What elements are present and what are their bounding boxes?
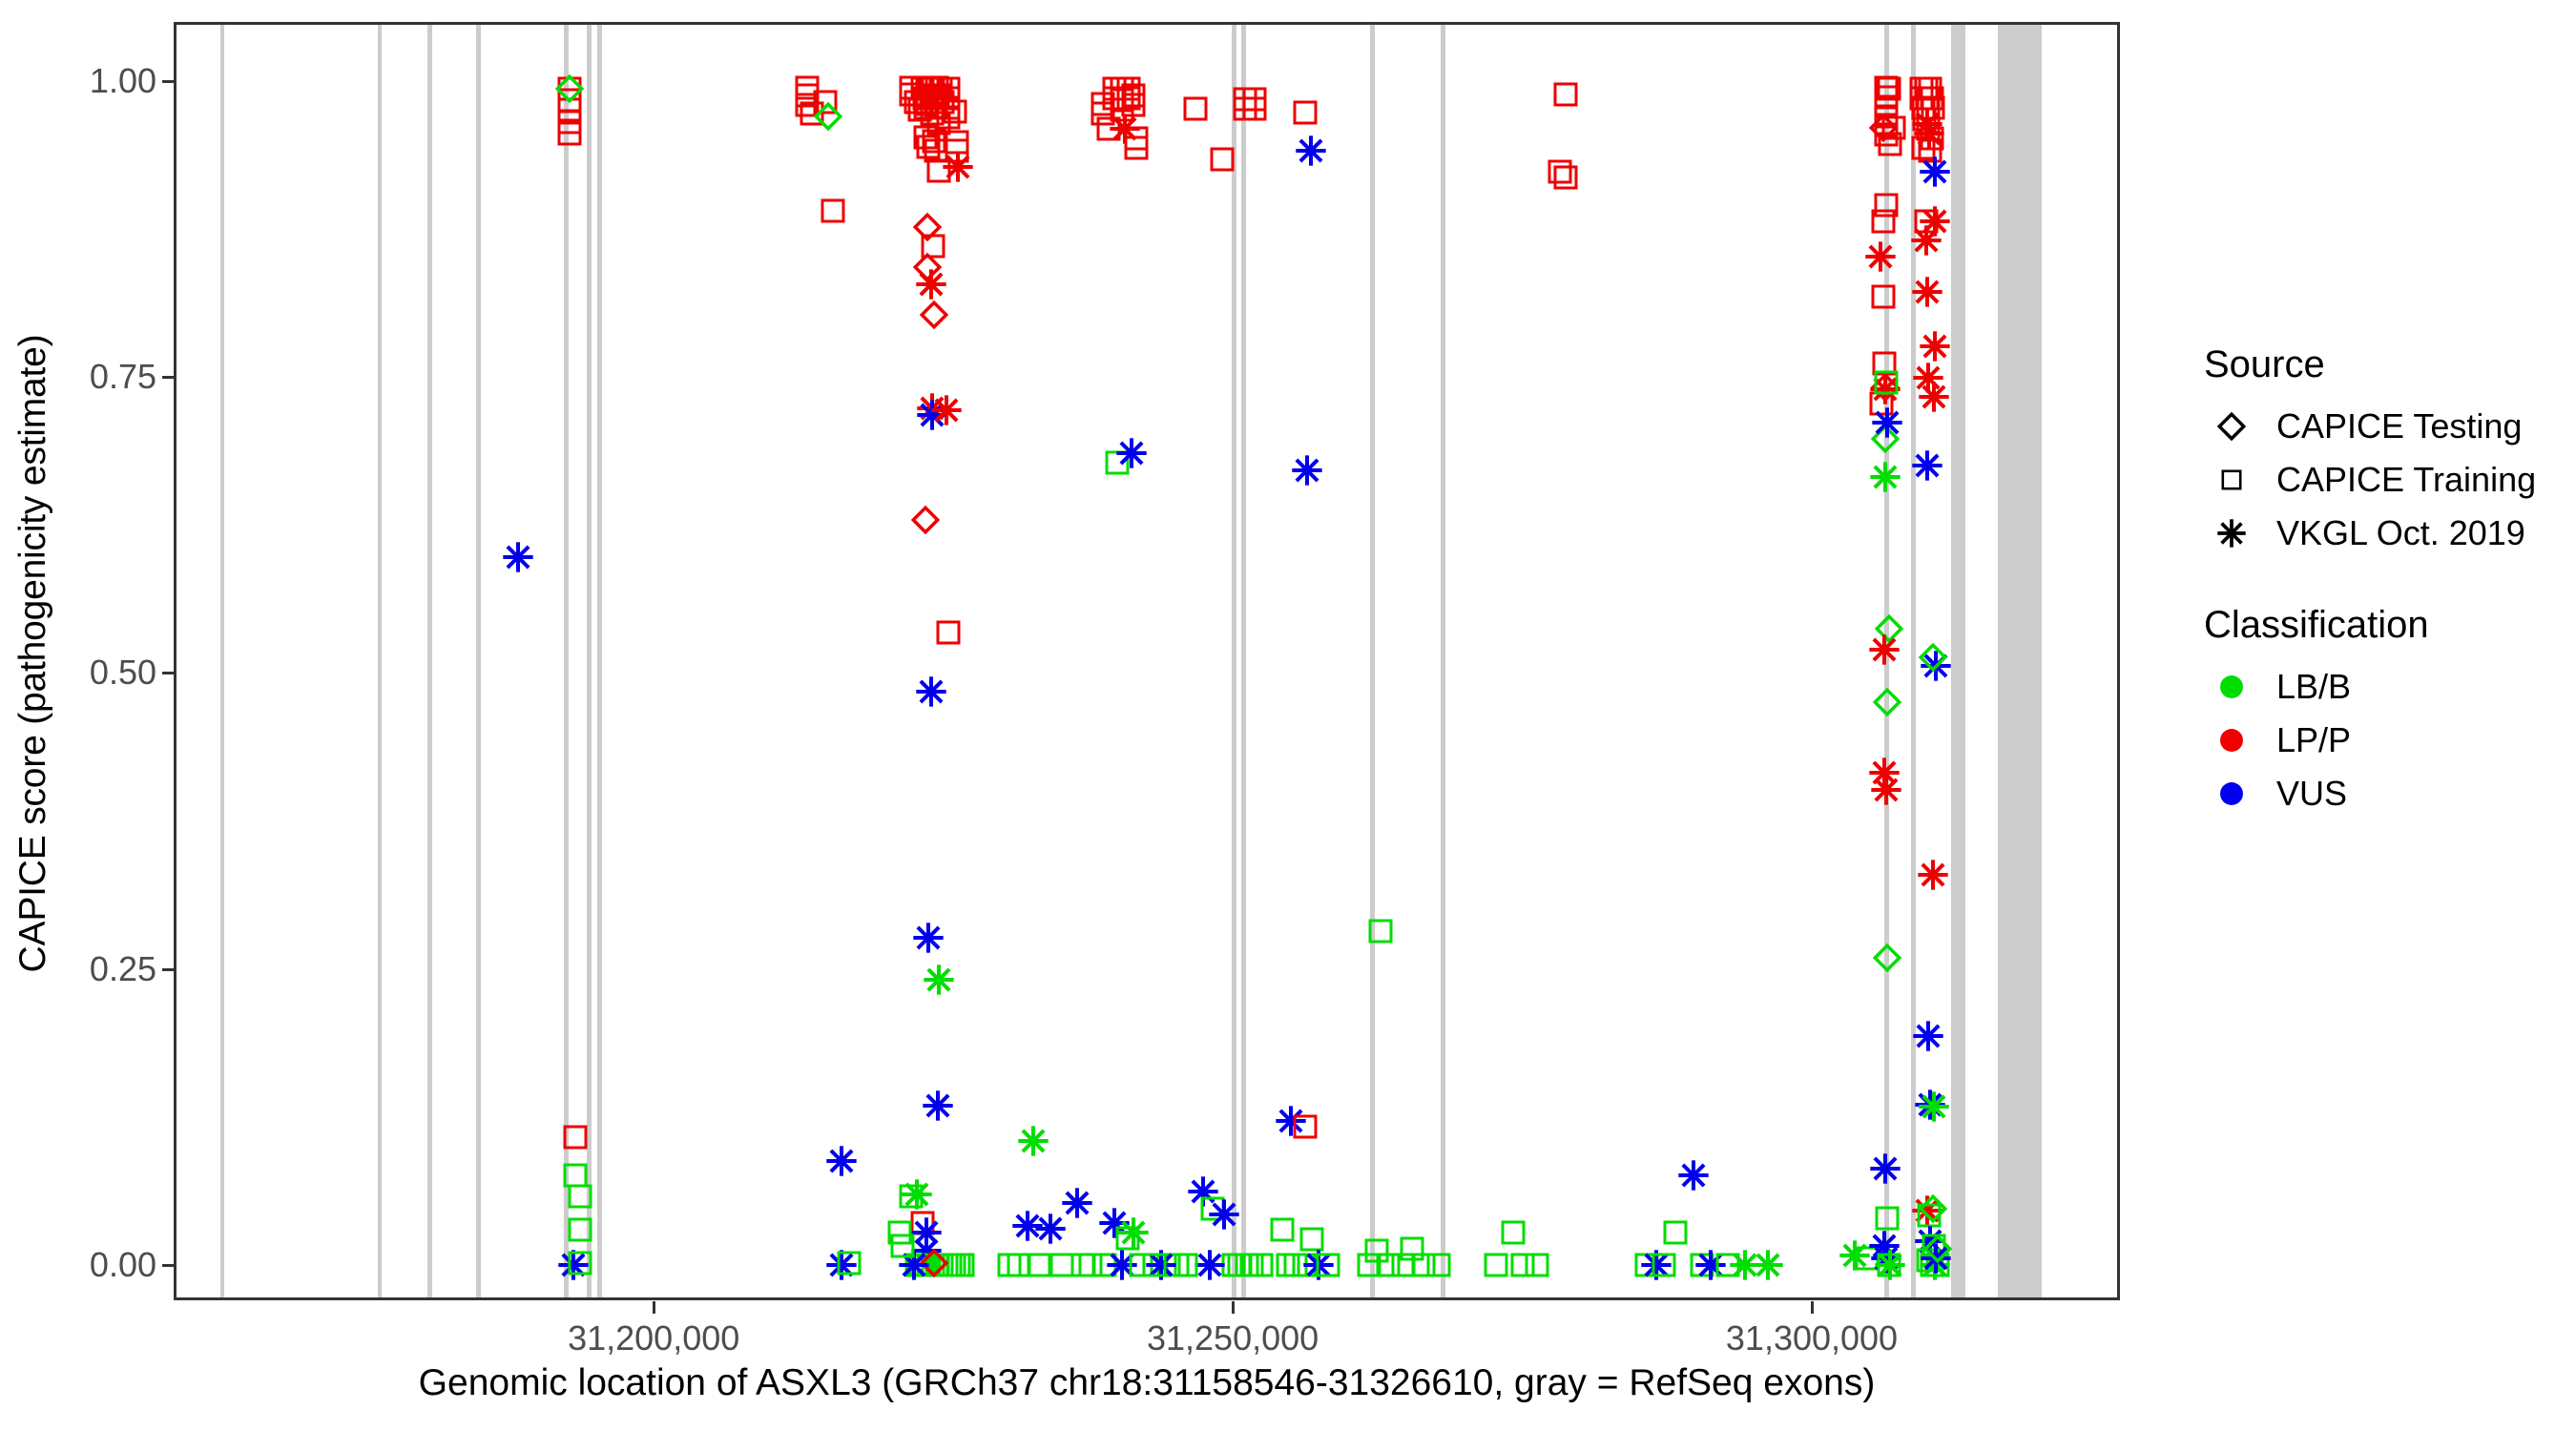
x-tick-mark: [653, 1301, 655, 1314]
data-point: [813, 90, 838, 114]
data-point: [1634, 1253, 1659, 1277]
data-point: [1091, 92, 1115, 116]
data-point: [913, 923, 944, 953]
data-point: [1357, 1253, 1381, 1277]
data-point: [1918, 860, 1948, 890]
exon-region-band: [1441, 25, 1445, 1297]
data-point: [1012, 1211, 1043, 1241]
legend-label: VUS: [2259, 774, 2347, 814]
data-point: [1921, 1243, 1951, 1274]
data-point: [1174, 1253, 1198, 1277]
data-point: [911, 1235, 942, 1266]
exon-region-band: [220, 25, 225, 1297]
data-point: [1914, 118, 1944, 149]
data-point: [1116, 86, 1141, 111]
diamond-icon: [2204, 400, 2259, 453]
exon-region-band: [1998, 25, 2042, 1297]
exon-region-band: [427, 25, 432, 1297]
data-point: [936, 620, 961, 645]
exon-region-band: [587, 25, 592, 1297]
data-point: [916, 1253, 941, 1277]
data-point: [1484, 1253, 1508, 1277]
data-point: [913, 125, 938, 150]
data-point: [837, 1251, 862, 1275]
data-point: [1102, 76, 1127, 101]
data-point: [899, 1250, 929, 1280]
data-point: [915, 83, 940, 108]
legend-item-classification-VUS[interactable]: VUS: [2204, 767, 2566, 820]
data-point: [942, 1253, 966, 1277]
data-point: [1525, 1253, 1549, 1277]
legend-title-classification: Classification: [2204, 604, 2566, 647]
legend-label: CAPICE Testing: [2259, 406, 2522, 446]
data-point: [1730, 1250, 1760, 1280]
data-point: [925, 83, 950, 108]
data-point: [1912, 107, 1937, 132]
x-tick-label: 31,300,000: [1659, 1318, 1964, 1358]
data-point: [920, 301, 948, 329]
data-point: [1663, 1220, 1688, 1245]
y-tick-mark: [162, 376, 174, 379]
data-point: [921, 76, 945, 101]
data-point: [910, 76, 935, 101]
y-tick-label: 0.25: [4, 949, 156, 989]
data-point: [1391, 1253, 1416, 1277]
data-point: [1918, 138, 1942, 163]
y-tick-label: 1.00: [4, 61, 156, 101]
data-point: [1146, 1250, 1176, 1280]
data-point: [924, 94, 948, 119]
data-point: [557, 110, 582, 135]
data-point: [1091, 101, 1115, 126]
data-point: [946, 1253, 971, 1277]
legend-color-items: LB/B LP/P VUS: [2204, 660, 2566, 820]
data-point: [943, 152, 973, 182]
data-point: [1877, 1253, 1901, 1277]
data-point: [924, 138, 948, 163]
data-point: [945, 138, 969, 163]
data-point: [1501, 1220, 1526, 1245]
data-point: [1099, 1208, 1130, 1238]
data-point: [1276, 1253, 1300, 1277]
exon-region-band: [1241, 25, 1246, 1297]
data-point: [919, 85, 944, 110]
x-tick-label: 31,250,000: [1080, 1318, 1385, 1358]
data-point: [911, 1217, 942, 1248]
data-point: [1129, 1253, 1153, 1277]
data-point: [899, 1184, 924, 1209]
data-point: [1293, 100, 1318, 125]
data-point: [1299, 1227, 1324, 1252]
data-point: [1920, 1253, 1944, 1277]
color-swatch-icon: [2204, 714, 2259, 767]
data-point: [1426, 1253, 1451, 1277]
data-point: [1183, 96, 1208, 121]
data-point: [1188, 1176, 1218, 1207]
data-point: [1923, 1234, 1952, 1263]
data-point: [1839, 1240, 1870, 1271]
data-point: [1919, 382, 1949, 412]
data-point: [1107, 1250, 1137, 1280]
data-point: [1915, 1089, 1945, 1120]
data-point: [936, 95, 961, 120]
y-tick-label: 0.75: [4, 357, 156, 397]
exon-region-band: [378, 25, 383, 1297]
data-point: [921, 234, 945, 259]
data-point: [904, 90, 928, 114]
data-point: [910, 1211, 935, 1235]
data-point: [1316, 1253, 1340, 1277]
data-point: [1249, 1253, 1274, 1277]
legend-item-source-asterisk[interactable]: VKGL Oct. 2019: [2204, 507, 2566, 560]
data-point: [1921, 651, 1951, 681]
data-point: [920, 101, 945, 126]
data-point: [1878, 132, 1902, 156]
data-point: [1918, 76, 1942, 101]
data-point: [1110, 76, 1134, 101]
data-point: [558, 1250, 589, 1280]
data-point: [1283, 1253, 1308, 1277]
data-point: [1865, 241, 1896, 272]
data-point: [911, 506, 940, 534]
data-point: [938, 1253, 963, 1277]
data-point: [934, 1253, 959, 1277]
data-point: [1400, 1236, 1424, 1261]
plot-panel: [174, 22, 2120, 1300]
legend-group-source: Source CAPICE Testing CAPICE TrainingVKG…: [2204, 343, 2566, 560]
data-point: [1871, 284, 1896, 309]
data-point: [1105, 450, 1130, 475]
data-point: [921, 1253, 945, 1277]
data-point: [826, 1146, 857, 1176]
color-swatch-icon: [2204, 660, 2259, 714]
data-point: [1195, 1250, 1225, 1280]
data-point: [1652, 1253, 1676, 1277]
data-point: [1919, 1194, 1947, 1223]
data-point: [1116, 76, 1141, 101]
data-point: [1877, 76, 1901, 101]
data-point: [890, 1234, 915, 1258]
data-point: [1124, 135, 1149, 160]
data-point: [907, 1253, 932, 1277]
data-point: [1919, 643, 1947, 672]
data-point: [1292, 455, 1322, 486]
data-point: [950, 1253, 975, 1277]
data-point: [902, 1179, 932, 1210]
y-tick-mark: [162, 1264, 174, 1267]
data-point: [917, 393, 947, 424]
exon-region-band: [597, 25, 602, 1297]
data-point: [1912, 450, 1942, 481]
data-point: [1235, 1253, 1259, 1277]
data-point: [1921, 95, 1945, 120]
data-point: [821, 198, 845, 223]
data-point: [922, 129, 946, 154]
data-point: [907, 97, 932, 122]
legend-label: LP/P: [2259, 720, 2351, 760]
data-point: [1115, 1226, 1140, 1251]
legend-label: CAPICE Training: [2259, 460, 2536, 500]
exon-region-band: [1951, 25, 1965, 1297]
legend-item-classification-LP-P[interactable]: LP/P: [2204, 714, 2566, 767]
data-point: [1018, 1126, 1049, 1156]
data-point: [922, 86, 946, 111]
data-point: [1913, 363, 1943, 393]
x-tick-mark: [1232, 1301, 1235, 1314]
data-point: [1869, 114, 1898, 142]
data-point: [928, 76, 953, 101]
data-point: [1913, 1021, 1943, 1051]
data-point: [912, 86, 937, 111]
data-point: [1925, 1253, 1950, 1277]
data-point: [1200, 1196, 1225, 1221]
data-point: [826, 1250, 857, 1280]
data-point: [1156, 1253, 1181, 1277]
data-point: [1920, 206, 1950, 237]
y-tick-mark: [162, 968, 174, 971]
data-point: [1912, 1195, 1942, 1226]
data-point: [1142, 1253, 1167, 1277]
legend-item-source-square[interactable]: CAPICE Training: [2204, 453, 2566, 507]
data-point: [1121, 93, 1146, 117]
data-point: [1296, 135, 1326, 166]
data-point: [917, 400, 947, 430]
data-point: [1062, 1188, 1092, 1218]
data-point: [913, 95, 938, 120]
data-point: [1553, 165, 1578, 190]
data-point: [1035, 1213, 1066, 1244]
data-point: [555, 74, 584, 103]
data-point: [1855, 1246, 1880, 1271]
data-point: [918, 76, 943, 101]
data-point: [936, 76, 961, 101]
x-tick-mark: [1811, 1301, 1814, 1314]
data-point: [1916, 95, 1941, 120]
data-point: [916, 135, 941, 159]
data-point: [1869, 391, 1894, 416]
data-point: [1915, 1226, 1945, 1256]
data-point: [910, 1253, 935, 1277]
data-point: [916, 676, 946, 707]
y-tick-mark: [162, 672, 174, 674]
data-point: [1920, 331, 1950, 362]
data-point: [1510, 1253, 1535, 1277]
data-point: [557, 121, 582, 146]
data-point: [887, 1220, 912, 1245]
data-point: [795, 75, 820, 100]
data-point: [926, 111, 951, 135]
data-point: [1875, 1250, 1905, 1280]
data-point: [1118, 1217, 1149, 1248]
data-point: [1690, 1253, 1714, 1277]
data-point: [930, 90, 955, 114]
plot-area: [177, 25, 2117, 1297]
data-point: [1121, 83, 1146, 108]
data-point: [1227, 1253, 1252, 1277]
data-point: [557, 88, 582, 113]
exon-region-band: [1370, 25, 1375, 1297]
data-point: [936, 105, 961, 130]
y-tick-label: 0.50: [4, 653, 156, 693]
data-point: [1919, 1091, 1949, 1122]
data-point: [899, 75, 924, 100]
data-point: [1548, 159, 1572, 184]
data-point: [926, 158, 951, 183]
data-point: [920, 1249, 948, 1277]
data-point: [1871, 209, 1896, 234]
data-point: [1553, 82, 1578, 107]
data-point: [1096, 116, 1121, 141]
data-point: [1917, 1203, 1942, 1228]
legend-label: LB/B: [2259, 667, 2351, 707]
data-point: [1110, 88, 1134, 113]
data-point: [923, 1090, 953, 1121]
data-point: [1303, 1250, 1334, 1280]
data-point: [795, 83, 820, 108]
data-point: [1753, 1250, 1783, 1280]
data-point: [1715, 1253, 1740, 1277]
capice-scatter-figure: CAPICE score (pathogenicity estimate) Ge…: [0, 0, 2576, 1431]
data-point: [1922, 1234, 1946, 1258]
data-point: [1916, 1248, 1941, 1273]
data-point: [1914, 209, 1939, 234]
data-point: [997, 1253, 1022, 1277]
data-point: [915, 92, 940, 116]
exon-region-band: [1911, 25, 1916, 1297]
y-tick-label: 0.00: [4, 1245, 156, 1285]
data-point: [936, 86, 961, 111]
data-point: [931, 395, 962, 425]
data-point: [1916, 116, 1941, 141]
data-point: [1912, 277, 1942, 307]
data-point: [1110, 97, 1134, 122]
data-point: [503, 542, 533, 572]
legend-label: VKGL Oct. 2019: [2259, 513, 2525, 553]
data-point: [1293, 1114, 1318, 1139]
legend-title-source: Source: [2204, 343, 2566, 386]
data-point: [1920, 126, 1944, 151]
data-point: [924, 1253, 949, 1277]
data-point: [915, 75, 940, 100]
data-point: [1124, 126, 1149, 151]
x-axis-title: Genomic location of ASXL3 (GRCh37 chr18:…: [174, 1362, 2120, 1404]
data-point: [1078, 1253, 1103, 1277]
data-point: [1920, 156, 1950, 187]
data-point: [1915, 86, 1940, 111]
data-point: [1007, 1253, 1031, 1277]
data-point: [1641, 1250, 1672, 1280]
data-point: [1027, 1253, 1051, 1277]
data-point: [1364, 1238, 1389, 1263]
data-point: [1110, 114, 1140, 144]
data-point: [1376, 1253, 1401, 1277]
data-point: [913, 253, 942, 281]
exon-region-band: [476, 25, 481, 1297]
data-point: [924, 75, 949, 100]
data-point: [899, 82, 924, 107]
square-icon: [2204, 453, 2259, 507]
exon-region-band: [564, 25, 569, 1297]
data-point: [1411, 1253, 1436, 1277]
data-point: [1920, 1250, 1950, 1280]
data-point: [1292, 1253, 1317, 1277]
data-point: [1875, 614, 1903, 643]
data-point: [1165, 1253, 1190, 1277]
legend-item-source-diamond[interactable]: CAPICE Testing: [2204, 400, 2566, 453]
legend-item-classification-LB-B[interactable]: LB/B: [2204, 660, 2566, 714]
data-point: [1914, 76, 1939, 101]
data-point: [924, 964, 954, 995]
legend-shape-items: CAPICE Testing CAPICE TrainingVKGL Oct. …: [2204, 400, 2566, 560]
data-point: [929, 1253, 954, 1277]
data-point: [1070, 1253, 1095, 1277]
asterisk-icon: [2204, 507, 2259, 560]
data-point: [1912, 109, 1942, 139]
data-point: [904, 1253, 929, 1277]
data-point: [913, 213, 942, 241]
data-point: [557, 76, 582, 101]
data-point: [557, 97, 582, 122]
data-point: [1695, 1250, 1726, 1280]
legend: Source CAPICE Testing CAPICE TrainingVKG…: [2204, 343, 2566, 864]
y-tick-mark: [162, 80, 174, 83]
data-point: [1270, 1217, 1295, 1242]
data-point: [814, 102, 842, 131]
data-point: [1276, 1106, 1306, 1136]
x-tick-label: 31,200,000: [501, 1318, 806, 1358]
data-point: [1049, 1253, 1074, 1277]
data-point: [945, 130, 969, 155]
data-point: [1678, 1160, 1709, 1191]
data-point: [1920, 86, 1944, 111]
data-point: [943, 99, 967, 124]
legend-group-classification: Classification LB/B LP/P VUS: [2204, 604, 2566, 820]
data-point: [795, 93, 820, 117]
data-point: [800, 101, 824, 126]
color-swatch-icon: [2204, 767, 2259, 820]
exon-region-band: [1232, 25, 1236, 1297]
data-point: [1116, 438, 1147, 468]
exon-region-band: [1884, 25, 1889, 1297]
data-point: [1210, 147, 1235, 172]
data-point: [916, 269, 946, 300]
data-point: [1092, 1253, 1117, 1277]
data-point: [1102, 86, 1127, 111]
